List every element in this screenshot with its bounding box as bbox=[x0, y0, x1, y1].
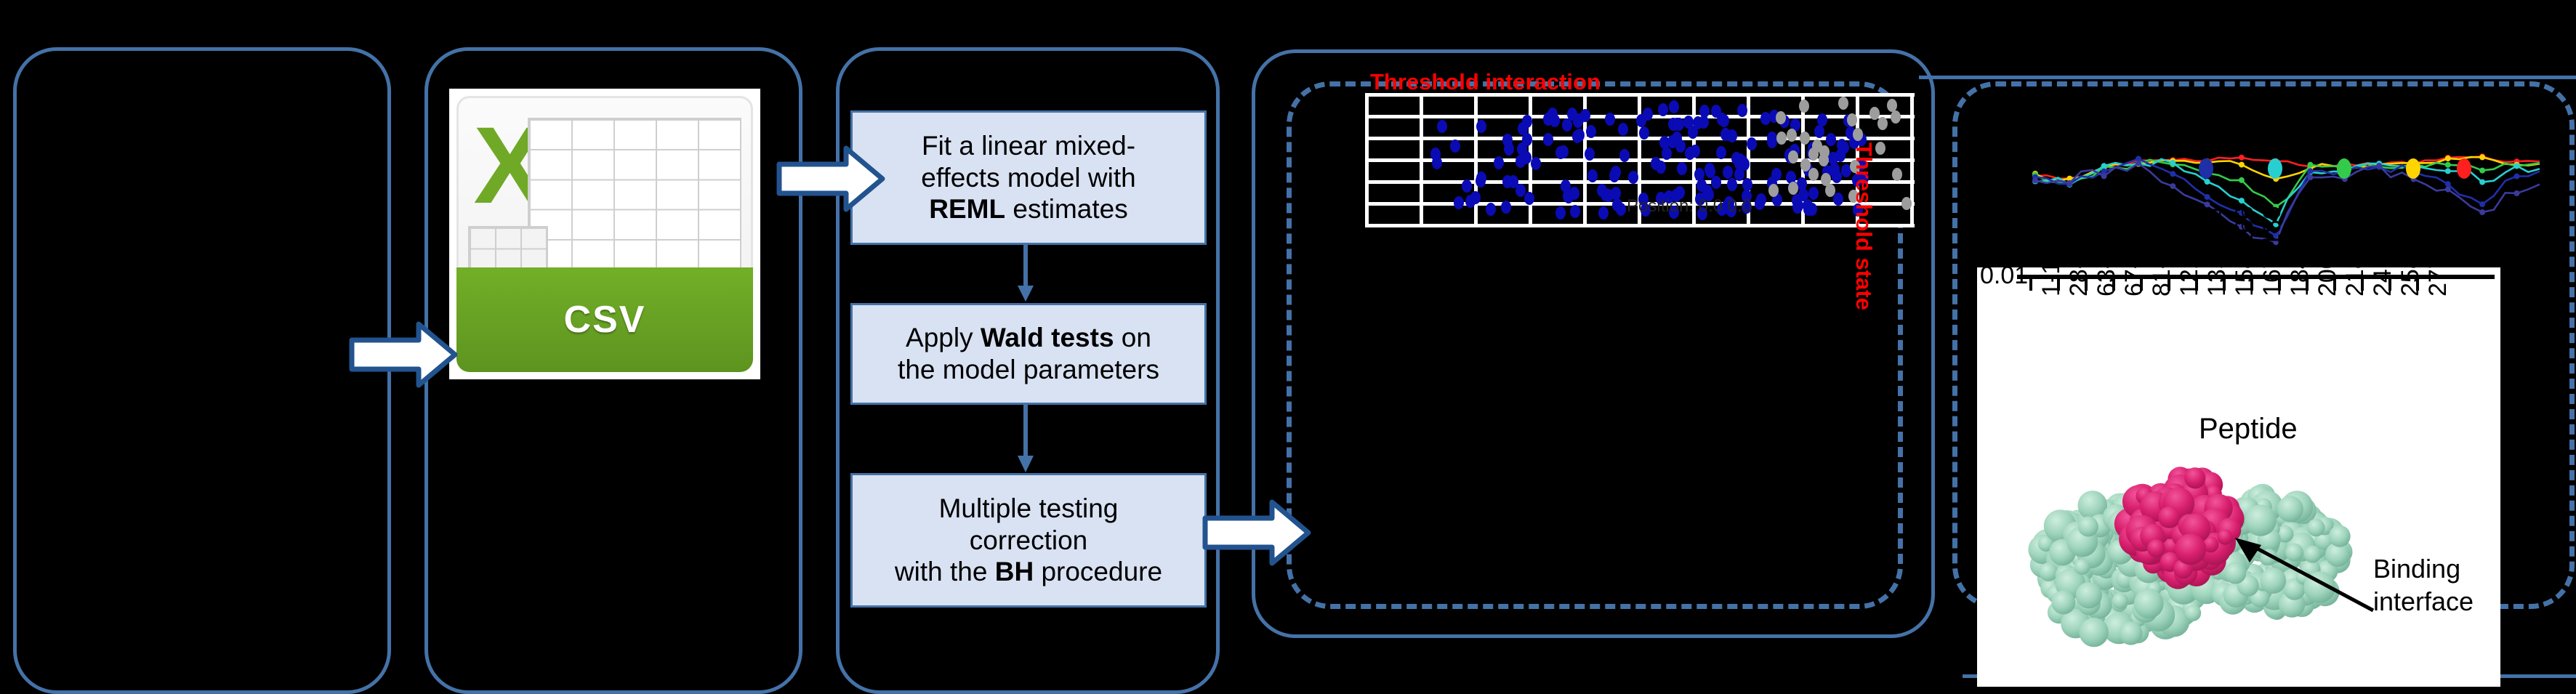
volcano-point bbox=[1787, 129, 1797, 142]
step-fit-line2: effects model with bbox=[921, 163, 1135, 193]
volcano-point bbox=[1639, 126, 1649, 140]
chart-legend-dot bbox=[2337, 158, 2351, 179]
x-axis-tick-label: 67-75 bbox=[2120, 233, 2149, 296]
volcano-point bbox=[1742, 178, 1752, 191]
peptide-series-marker bbox=[2170, 183, 2175, 189]
volcano-point bbox=[1716, 146, 1726, 159]
volcano-point bbox=[1793, 199, 1803, 212]
volcano-point bbox=[1799, 100, 1809, 113]
x-axis-tick-label: 258-266 bbox=[2396, 206, 2425, 296]
volcano-point bbox=[1543, 133, 1553, 146]
x-axis-tick-label: 241-257 bbox=[2369, 206, 2397, 296]
volcano-point bbox=[1555, 206, 1566, 219]
binding-interface-arrow bbox=[2228, 538, 2380, 618]
volcano-point bbox=[1788, 150, 1798, 164]
step-bh-line2: correction bbox=[970, 525, 1087, 555]
step-wald-bold: Wald tests bbox=[981, 323, 1114, 352]
volcano-point bbox=[1618, 123, 1628, 136]
protein-chain-blob bbox=[2119, 621, 2142, 645]
volcano-point bbox=[1672, 132, 1682, 145]
volcano-point bbox=[1699, 116, 1709, 129]
volcano-point bbox=[1585, 148, 1595, 161]
volcano-point bbox=[1669, 100, 1679, 113]
peptide-series-marker bbox=[2514, 190, 2520, 196]
volcano-point bbox=[1558, 145, 1569, 158]
volcano-point bbox=[1788, 182, 1798, 195]
volcano-gridline-h bbox=[1365, 93, 1915, 97]
volcano-point bbox=[1847, 113, 1857, 126]
peptide-series-marker bbox=[2479, 201, 2485, 207]
x-axis-tick-label: 135-144 bbox=[2203, 206, 2231, 296]
protein-chain-blob bbox=[2078, 517, 2098, 537]
volcano-point bbox=[1501, 201, 1511, 214]
volcano-point bbox=[1502, 134, 1513, 147]
protein-epitope-blob bbox=[2184, 467, 2205, 488]
chart-legend-dot bbox=[2199, 158, 2213, 179]
csv-label: CSV bbox=[564, 298, 646, 342]
panel5-top-rule bbox=[1919, 76, 2576, 79]
volcano-point bbox=[1476, 120, 1486, 133]
volcano-point bbox=[1494, 156, 1504, 169]
csv-grid-main bbox=[528, 118, 741, 270]
volcano-point bbox=[1838, 97, 1848, 110]
x-axis-tick-label: 63-73 bbox=[2093, 233, 2121, 296]
volcano-point bbox=[1605, 113, 1615, 126]
volcano-point bbox=[1875, 142, 1885, 155]
volcano-point bbox=[1502, 175, 1513, 188]
volcano-point bbox=[1586, 125, 1596, 138]
x-axis-tick-label: 81-101 bbox=[2148, 219, 2176, 296]
volcano-point bbox=[1711, 176, 1721, 189]
step-wald-line1-post: on bbox=[1114, 323, 1151, 352]
x-axis-tick-label: 167-180 bbox=[2258, 206, 2287, 296]
peptide-series-marker bbox=[2205, 194, 2210, 200]
volcano-point bbox=[1720, 128, 1731, 141]
volcano-point bbox=[1677, 162, 1687, 175]
volcano-point bbox=[1826, 133, 1836, 146]
protein-chain-blob bbox=[2307, 519, 2325, 536]
volcano-point bbox=[1800, 158, 1811, 172]
volcano-point bbox=[1803, 199, 1813, 212]
volcano-point bbox=[1628, 171, 1638, 184]
x-axis-tick-label: 184-199 bbox=[2286, 206, 2314, 296]
volcano-point bbox=[1839, 141, 1849, 154]
volcano-point bbox=[1808, 168, 1819, 181]
step-bh[interactable]: Multiple testing correction with the BH … bbox=[850, 473, 1207, 608]
volcano-point bbox=[1877, 117, 1888, 130]
volcano-point bbox=[1662, 147, 1672, 160]
x-axis-title: Peptide bbox=[2199, 413, 2298, 445]
input-panel bbox=[13, 47, 391, 694]
volcano-point bbox=[1830, 163, 1840, 176]
chart-legend-dot bbox=[2457, 158, 2471, 179]
volcano-point bbox=[1609, 169, 1619, 182]
step-bh-line3-pre: with the bbox=[895, 557, 995, 586]
fit-to-wald-arrow bbox=[1015, 245, 1037, 303]
volcano-point bbox=[1723, 166, 1733, 179]
x-axis-tick bbox=[2029, 275, 2032, 291]
volcano-gridline-h bbox=[1365, 224, 1915, 227]
volcano-point bbox=[1690, 145, 1700, 158]
volcano-point bbox=[1817, 113, 1827, 126]
block-arrow-input-to-data bbox=[349, 320, 458, 390]
threshold-state-label: Threshold state bbox=[1851, 142, 1877, 310]
volcano-point bbox=[1462, 179, 1472, 193]
volcano-point bbox=[1825, 184, 1835, 197]
step-fit-reml: REML bbox=[929, 194, 1005, 224]
protein-chain-blob bbox=[2076, 582, 2102, 608]
volcano-point bbox=[1603, 189, 1614, 202]
volcano-point bbox=[1853, 128, 1863, 141]
block-arrow-analysis-to-results bbox=[1202, 498, 1311, 568]
volcano-point bbox=[1808, 187, 1819, 200]
peptide-series-marker bbox=[2066, 180, 2072, 186]
protein-chain-blob bbox=[2039, 562, 2058, 581]
chart-legend-dot bbox=[2406, 158, 2420, 179]
x-axis-tick-label: 200-214 bbox=[2314, 206, 2342, 296]
csv-file-icon: X CSV bbox=[449, 89, 760, 379]
volcano-point bbox=[1901, 197, 1912, 210]
x-axis-tick-label: 218-237 bbox=[2341, 206, 2370, 296]
volcano-point bbox=[1656, 161, 1666, 174]
volcano-point bbox=[1486, 203, 1496, 216]
peptide-series-marker bbox=[2445, 187, 2451, 193]
x-axis-tick-label: 122-129 bbox=[2175, 206, 2204, 296]
volcano-point bbox=[1437, 120, 1447, 133]
volcano-point bbox=[1516, 155, 1526, 168]
step-wald-line2: the model parameters bbox=[898, 355, 1159, 384]
volcano-point bbox=[1797, 177, 1807, 190]
protein-epitope-blob bbox=[2175, 533, 2206, 565]
peptide-series-marker bbox=[2445, 181, 2451, 187]
step-fit-line3-post: estimates bbox=[1005, 194, 1128, 224]
volcano-point bbox=[1731, 152, 1742, 165]
chart-legend-dot bbox=[2268, 158, 2282, 179]
step-bh-line3-post: procedure bbox=[1034, 557, 1162, 586]
volcano-point bbox=[1547, 108, 1558, 121]
peptide-series-marker bbox=[2479, 209, 2485, 215]
volcano-point bbox=[1814, 125, 1824, 138]
wald-to-bh-arrow bbox=[1015, 405, 1037, 474]
step-bh-bold: BH bbox=[995, 557, 1034, 586]
x-axis-tick-label: 277-284 bbox=[2424, 206, 2452, 296]
protein-chain-blob bbox=[2112, 593, 2128, 609]
volcano-point bbox=[1563, 190, 1573, 203]
volcano-point bbox=[1643, 108, 1653, 121]
protein-chain-blob bbox=[2277, 496, 2303, 522]
step-fit-line1: Fit a linear mixed- bbox=[922, 131, 1135, 161]
volcano-point bbox=[1819, 153, 1829, 166]
step-wald-line1-pre: Apply bbox=[906, 323, 981, 352]
protein-chain-blob bbox=[2134, 589, 2164, 618]
block-arrow-data-to-analysis bbox=[776, 144, 885, 214]
protein-epitope-blob bbox=[2147, 539, 2165, 557]
volcano-point bbox=[1869, 107, 1880, 120]
volcano-point bbox=[1767, 135, 1777, 148]
volcano-point bbox=[1454, 196, 1464, 209]
volcano-point bbox=[1658, 103, 1668, 116]
volcano-point bbox=[1756, 193, 1766, 206]
peptide-series-marker bbox=[2239, 198, 2245, 203]
volcano-ghost-text: Position: 0.0 0.0 bbox=[1627, 196, 1752, 217]
step-fit-model[interactable]: Fit a linear mixed- effects model with R… bbox=[850, 110, 1207, 245]
volcano-point bbox=[1892, 168, 1902, 181]
protein-chain-blob bbox=[2184, 605, 2201, 621]
protein-chain-blob bbox=[2074, 559, 2090, 575]
volcano-point bbox=[1696, 179, 1707, 192]
volcano-point bbox=[1768, 184, 1779, 197]
volcano-point bbox=[1531, 157, 1541, 170]
volcano-point bbox=[1776, 132, 1787, 145]
volcano-point bbox=[1674, 118, 1684, 131]
peptide-axis-card: 0.01 1-1528-4463-7367-7581-101122-129135… bbox=[1977, 267, 2500, 687]
volcano-point bbox=[1747, 137, 1757, 150]
volcano-point bbox=[1465, 195, 1476, 208]
volcano-point bbox=[1776, 111, 1786, 124]
volcano-point bbox=[1616, 203, 1626, 216]
volcano-point bbox=[1727, 178, 1737, 191]
volcano-point bbox=[1522, 133, 1532, 146]
slide-canvas: X CSV Fit a linear mixed- effects model … bbox=[0, 0, 2576, 687]
x-axis-tick-label: 28-44 bbox=[2065, 233, 2093, 296]
volcano-point bbox=[1705, 165, 1715, 178]
step-wald[interactable]: Apply Wald tests on the model parameters bbox=[850, 303, 1207, 405]
protein-chain-blob bbox=[2245, 504, 2276, 536]
csv-grid-secondary bbox=[468, 226, 548, 270]
volcano-point bbox=[1800, 132, 1810, 145]
volcano-plot-area: Position: 0.0 0.0Threshold state bbox=[1365, 93, 1915, 227]
volcano-point bbox=[1450, 140, 1460, 153]
volcano-point bbox=[1432, 156, 1442, 169]
x-axis-tick-label: 1-15 bbox=[2037, 247, 2066, 296]
volcano-point bbox=[1587, 169, 1598, 182]
binding-interface-label: Binding interface bbox=[2373, 552, 2474, 618]
protein-chain-blob bbox=[2051, 590, 2075, 614]
threshold-interaction-label: Threshold interaction bbox=[1370, 69, 1601, 95]
volcano-point bbox=[1562, 118, 1572, 132]
protein-epitope-blob bbox=[2158, 507, 2180, 528]
volcano-point bbox=[1524, 192, 1534, 205]
volcano-point bbox=[1891, 110, 1901, 124]
volcano-point bbox=[1574, 113, 1584, 126]
volcano-point bbox=[1619, 149, 1630, 162]
volcano-gridline-h bbox=[1365, 180, 1915, 184]
volcano-point bbox=[1598, 206, 1609, 219]
volcano-point bbox=[1570, 205, 1580, 218]
protein-chain-blob bbox=[2080, 618, 2109, 647]
volcano-point bbox=[1476, 172, 1486, 185]
volcano-point bbox=[1833, 193, 1843, 206]
volcano-point bbox=[1574, 129, 1585, 142]
volcano-point bbox=[1737, 104, 1747, 117]
volcano-point bbox=[1719, 114, 1729, 127]
step-bh-line1: Multiple testing bbox=[939, 493, 1119, 523]
x-axis-tick-label: 158-166 bbox=[2231, 206, 2259, 296]
